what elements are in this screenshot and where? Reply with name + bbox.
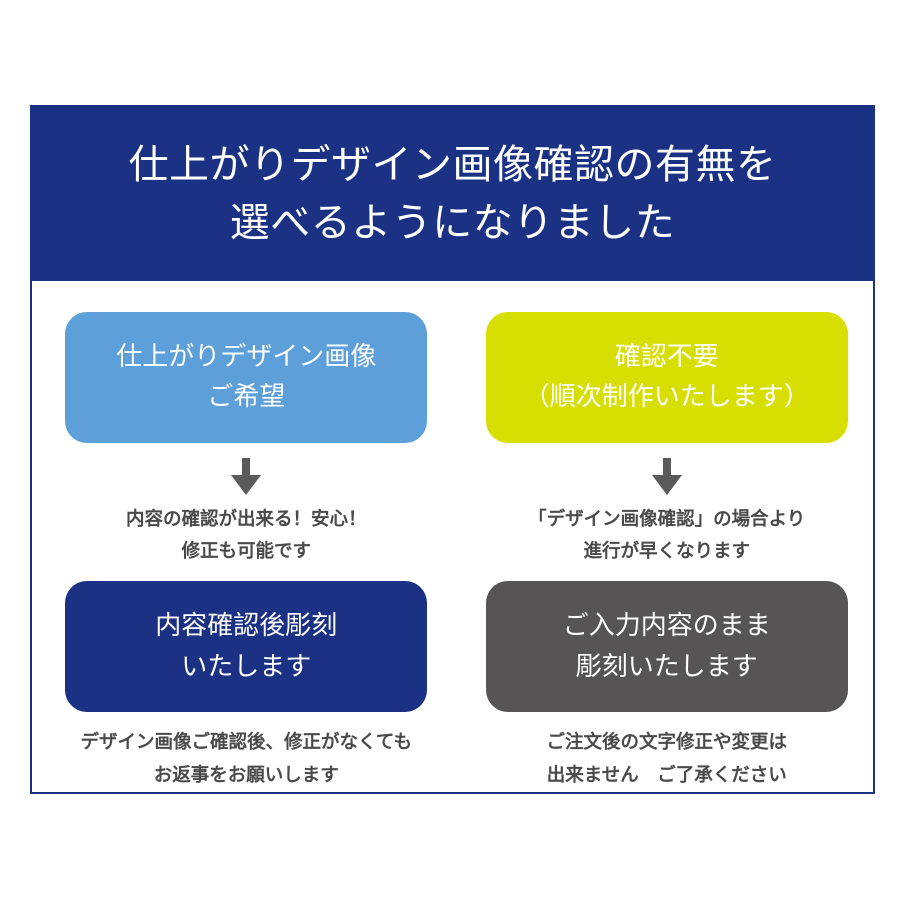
benefit-text-left: 内容の確認が出来る！安心！ 修正も可能です	[126, 503, 367, 568]
result-box-engrave-as-entered[interactable]: ご入力内容のまま 彫刻いたします	[486, 581, 848, 712]
column-no-confirmation-needed: 確認不要 （順次制作いたします） 「デザイン画像確認」の場合より 進行が早くなり…	[453, 281, 874, 792]
benefit-line-2: 修正も可能です	[126, 535, 367, 567]
note-line-2: 出来ません ご了承ください	[546, 759, 787, 792]
note-text-right: ご注文後の文字修正や変更は 出来ません ご了承ください	[546, 726, 787, 792]
option-box-no-confirmation-needed[interactable]: 確認不要 （順次制作いたします）	[486, 312, 848, 443]
arrow-down-icon-left	[229, 457, 263, 497]
note-line-1: デザイン画像ご確認後、修正がなくても	[80, 726, 412, 759]
header-title-line-2: 選べるようになりました	[230, 194, 676, 252]
option-box-design-image-requested[interactable]: 仕上がりデザイン画像 ご希望	[65, 312, 427, 443]
options-comparison-area: 仕上がりデザイン画像 ご希望 内容の確認が出来る！安心！ 修正も可能です 内容確…	[32, 281, 873, 792]
note-line-2: お返事をお願いします	[80, 759, 412, 792]
header-banner: 仕上がりデザイン画像確認の有無を 選べるようになりました	[32, 107, 873, 281]
option-box-line-2: （順次制作いたします）	[524, 377, 810, 417]
benefit-line-2: 進行が早くなります	[528, 535, 805, 567]
header-title-line-1: 仕上がりデザイン画像確認の有無を	[129, 136, 777, 194]
arrow-down-icon-right	[650, 457, 684, 497]
benefit-text-right: 「デザイン画像確認」の場合より 進行が早くなります	[528, 503, 805, 568]
result-box-line-2: 彫刻いたします	[576, 647, 758, 687]
benefit-line-1: 内容の確認が出来る！安心！	[126, 503, 367, 535]
content-frame: 仕上がりデザイン画像確認の有無を 選べるようになりました 仕上がりデザイン画像 …	[30, 105, 875, 794]
arrow-down-icon	[229, 458, 263, 496]
note-text-left: デザイン画像ご確認後、修正がなくても お返事をお願いします	[80, 726, 412, 792]
result-box-line-1: 内容確認後彫刻	[155, 606, 337, 646]
note-line-1: ご注文後の文字修正や変更は	[546, 726, 787, 759]
infographic-canvas: 仕上がりデザイン画像確認の有無を 選べるようになりました 仕上がりデザイン画像 …	[0, 0, 900, 900]
result-box-engrave-after-confirmation[interactable]: 内容確認後彫刻 いたします	[65, 581, 427, 712]
option-box-line-2: ご希望	[207, 377, 285, 417]
option-box-line-1: 確認不要	[615, 337, 719, 377]
result-box-line-1: ご入力内容のまま	[563, 606, 771, 646]
result-box-line-2: いたします	[181, 647, 311, 687]
column-design-image-requested: 仕上がりデザイン画像 ご希望 内容の確認が出来る！安心！ 修正も可能です 内容確…	[32, 281, 453, 792]
option-box-line-1: 仕上がりデザイン画像	[116, 337, 376, 377]
arrow-down-icon	[650, 458, 684, 496]
benefit-line-1: 「デザイン画像確認」の場合より	[528, 503, 805, 535]
